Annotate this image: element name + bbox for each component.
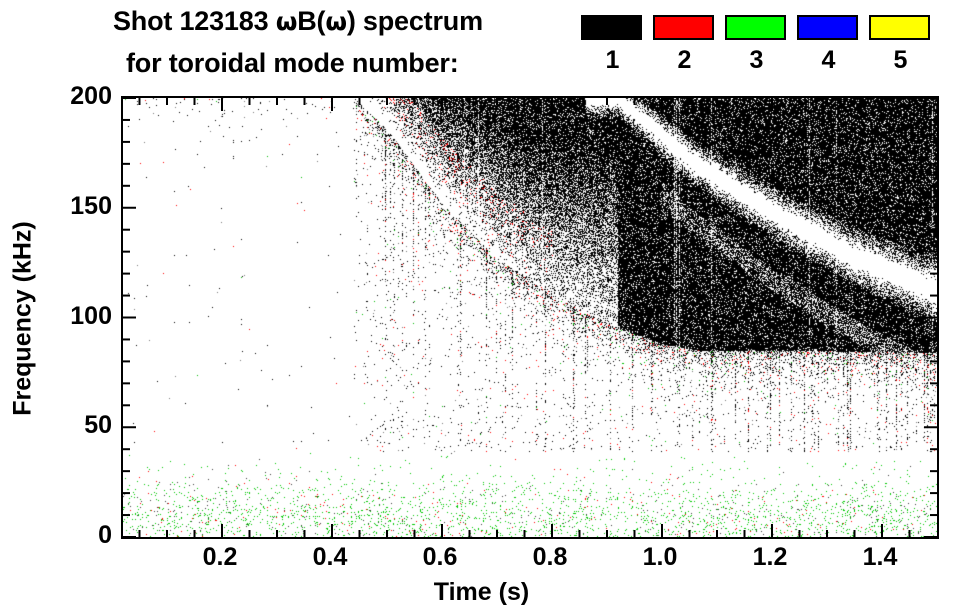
y-axis-title: Frequency (kHz): [9, 204, 38, 434]
title-spectrum-text: ) spectrum: [347, 6, 483, 36]
legend-label-mode-3: 3: [725, 48, 788, 73]
omega-symbol-1: ω: [276, 7, 298, 36]
legend-label-mode-1: 1: [581, 48, 644, 73]
x-tick-label-0.6: 0.6: [423, 545, 458, 570]
legend-swatch-mode-1: [581, 15, 642, 40]
x-axis-title: Time (s): [0, 578, 963, 607]
plot-area: [121, 96, 939, 539]
legend-label-mode-2: 2: [653, 48, 716, 73]
legend-item-mode-5: 5: [869, 15, 932, 73]
legend-item-mode-4: 4: [797, 15, 860, 73]
x-axis-tick-labels: 0.20.40.60.81.01.21.4: [0, 545, 963, 577]
title-shot-text: Shot 123183: [113, 6, 276, 36]
legend-swatch-mode-5: [869, 15, 930, 40]
legend-item-mode-2: 2: [653, 15, 716, 73]
spectrogram-figure: Shot 123183 ωB(ω) spectrum for toroidal …: [0, 0, 963, 615]
legend-label-mode-4: 4: [797, 48, 860, 73]
x-tick-label-1.0: 1.0: [643, 545, 678, 570]
spectrogram-raster: [123, 98, 937, 537]
legend-item-mode-1: 1: [581, 15, 644, 73]
legend: 12345: [581, 15, 931, 90]
legend-item-mode-3: 3: [725, 15, 788, 73]
figure-title-line1: Shot 123183 ωB(ω) spectrum: [113, 6, 483, 37]
y-tick-label-200: 200: [70, 84, 112, 109]
figure-title-line2: for toroidal mode number:: [126, 48, 459, 79]
title-b-text: B(: [297, 6, 325, 36]
x-tick-label-1.4: 1.4: [863, 545, 898, 570]
x-tick-label-0.4: 0.4: [313, 545, 348, 570]
y-tick-label-50: 50: [84, 413, 112, 438]
legend-swatch-mode-2: [653, 15, 714, 40]
x-tick-label-0.8: 0.8: [533, 545, 568, 570]
legend-swatch-mode-3: [725, 15, 786, 40]
legend-label-mode-5: 5: [869, 48, 932, 73]
x-tick-label-0.2: 0.2: [203, 545, 238, 570]
y-tick-label-100: 100: [70, 304, 112, 329]
legend-swatch-mode-4: [797, 15, 858, 40]
x-tick-label-1.2: 1.2: [753, 545, 788, 570]
omega-symbol-2: ω: [325, 7, 347, 36]
y-tick-label-150: 150: [70, 194, 112, 219]
